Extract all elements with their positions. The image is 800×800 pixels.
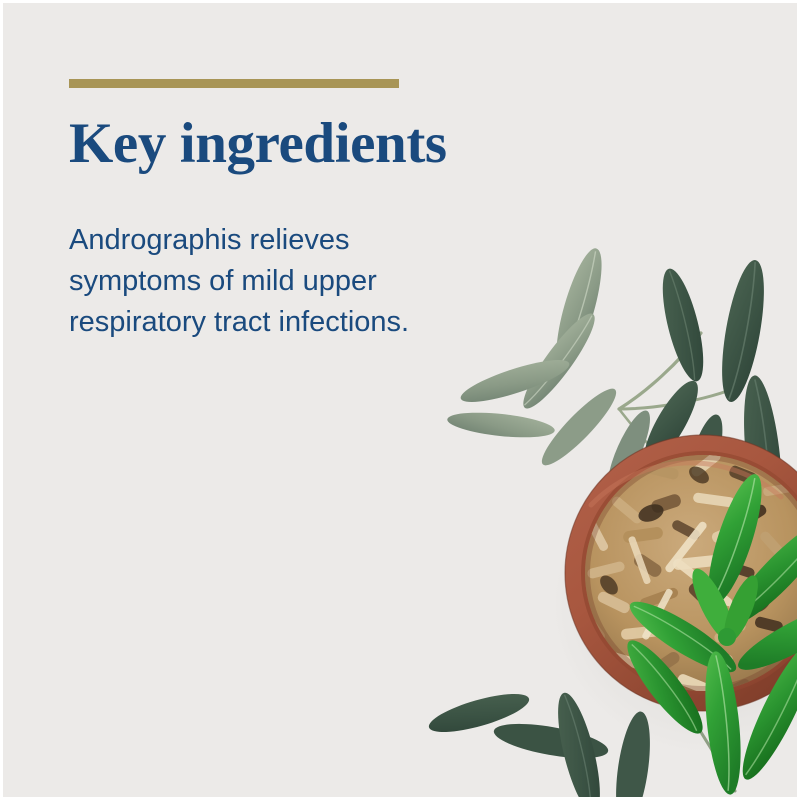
key-ingredients-card: Key ingredients Andrographis relieves sy…	[0, 0, 800, 800]
accent-bar	[69, 79, 399, 88]
body-copy: Andrographis relieves symptoms of mild u…	[69, 220, 414, 343]
page-title: Key ingredients	[69, 114, 469, 174]
olive-leaf	[446, 408, 556, 441]
olive-leaf	[654, 265, 711, 385]
olive-leaf	[714, 257, 772, 405]
text-block: Key ingredients Andrographis relieves sy…	[69, 79, 469, 343]
